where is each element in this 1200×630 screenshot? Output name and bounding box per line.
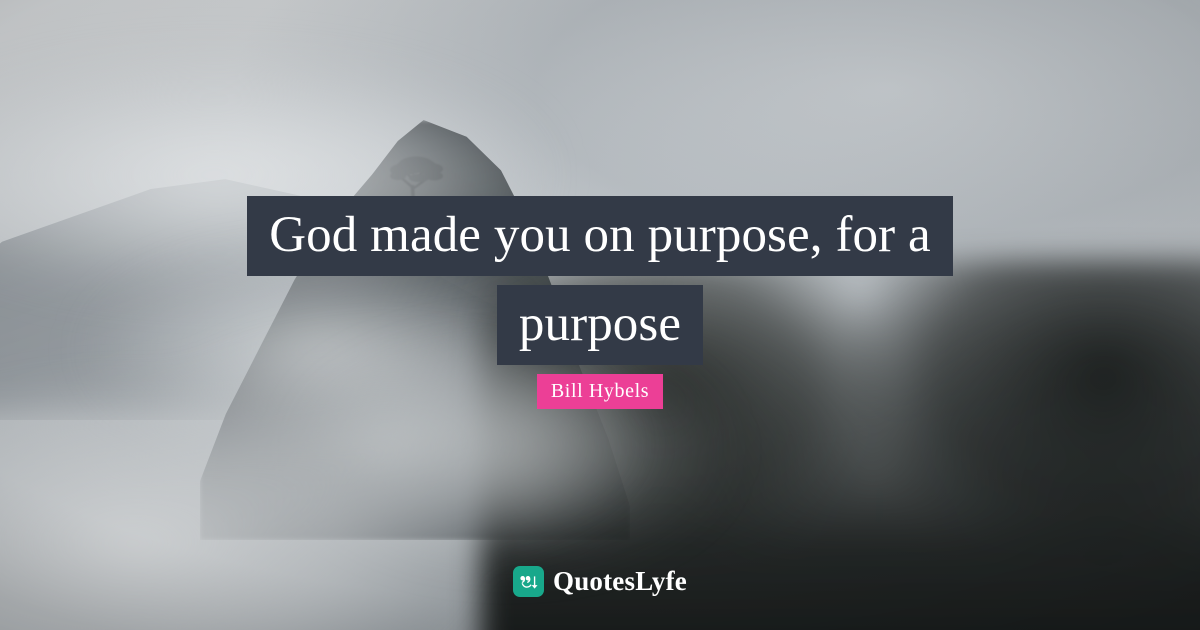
quote-smile-icon <box>513 566 544 597</box>
quote-line-row: purpose <box>0 285 1200 365</box>
quote-line-row: God made you on purpose, for a <box>0 196 1200 276</box>
author-badge: Bill Hybels <box>537 374 663 409</box>
quote-line-1: God made you on purpose, for a <box>247 196 953 276</box>
brand-name: QuotesLyfe <box>553 568 687 595</box>
quote-card: God made you on purpose, for a purpose B… <box>0 0 1200 630</box>
quote-text-block: God made you on purpose, for a purpose <box>0 196 1200 365</box>
author-attribution: Bill Hybels <box>0 374 1200 409</box>
quote-line-2: purpose <box>497 285 703 365</box>
brand-logo: QuotesLyfe <box>0 566 1200 597</box>
